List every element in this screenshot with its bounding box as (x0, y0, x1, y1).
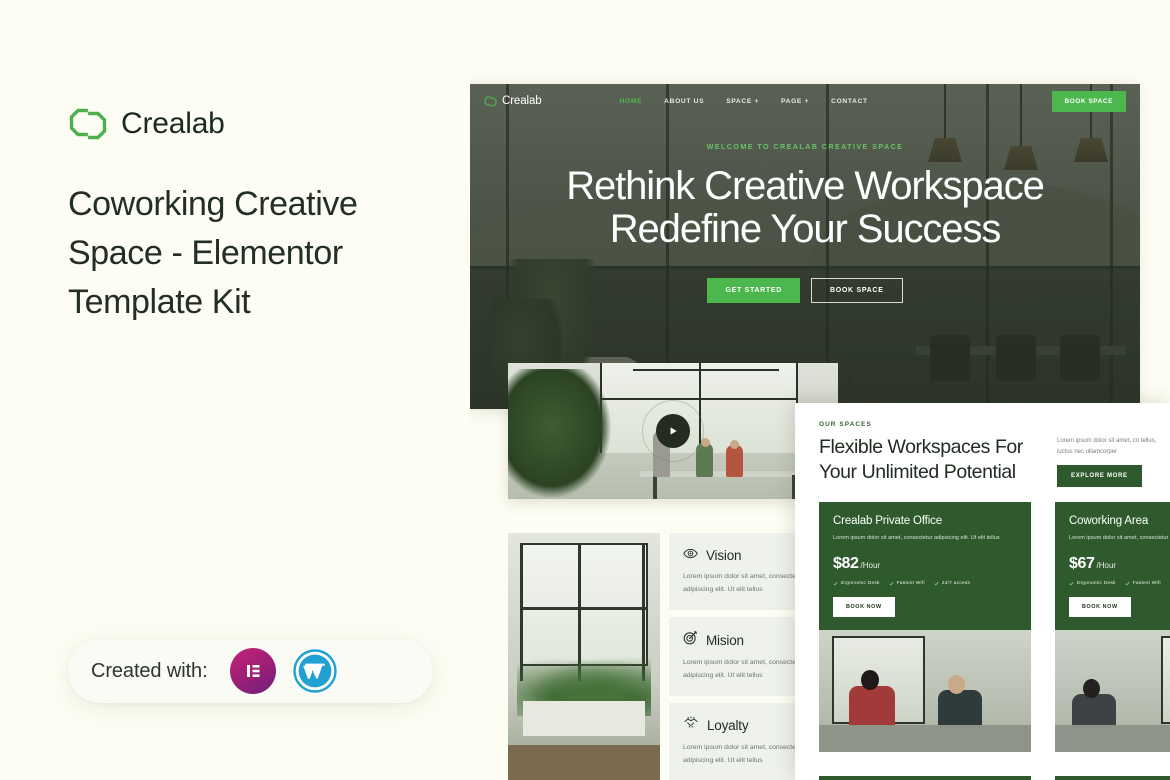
spaces-description: Lorem ipsum dolor sit amet, co tellus, l… (1057, 436, 1161, 459)
space-card-name: Coworking Area (1069, 515, 1170, 527)
template-preview-stage: Crealab HOME ABOUT US SPACE + PAGE + CON… (470, 0, 1170, 780)
check-icon (934, 581, 939, 586)
space-card-unit: /Hour (861, 561, 881, 570)
hero-headline-line-2: Redefine Your Success (470, 208, 1140, 251)
space-card-desc: Lorem ipsum dolor sit amet, consectetur … (833, 533, 1017, 544)
nav-item-about-us[interactable]: ABOUT US (664, 98, 704, 105)
values-section-mockup: Vision Lorem ipsum dolor sit amet, conse… (508, 533, 838, 780)
handshake-icon (683, 716, 699, 735)
hero-book-space-button[interactable]: BOOK SPACE (811, 278, 903, 303)
value-title-mision: Mision (706, 633, 744, 648)
hero-buttons: GET STARTED BOOK SPACE (470, 278, 1140, 303)
check-icon (833, 581, 838, 586)
space-card-name: Crealab Private Office (833, 515, 1017, 527)
wordpress-icon (292, 648, 338, 694)
nav-item-home[interactable]: HOME (620, 98, 643, 105)
space-card-private-office[interactable]: Crealab Private Office Lorem ipsum dolor… (819, 502, 1031, 752)
values-photo (508, 533, 660, 780)
explore-more-button[interactable]: EXPLORE MORE (1057, 465, 1142, 487)
promo-left-panel: Crealab Coworking Creative Space - Eleme… (0, 0, 470, 780)
feature-label: Fastest Wifi (1133, 581, 1161, 586)
video-thumbnail (508, 363, 838, 499)
value-title-loyalty: Loyalty (707, 718, 748, 733)
navbar-menu: HOME ABOUT US SPACE + PAGE + CONTACT (620, 98, 868, 105)
play-triangle-icon (667, 425, 679, 437)
navbar-logo[interactable]: Crealab (484, 95, 542, 108)
space-card-pricing: $82/Hour (833, 555, 1017, 573)
get-started-button[interactable]: GET STARTED (707, 278, 800, 303)
space-card-features: Ergonomic Desk Fastest Wifi 24/7 access (833, 581, 1017, 586)
check-icon (1069, 581, 1074, 586)
spaces-eyebrow: OUR SPACES (819, 421, 872, 428)
hero-screen-mockup: Crealab HOME ABOUT US SPACE + PAGE + CON… (470, 84, 1140, 409)
space-card-photo (819, 630, 1031, 752)
hero-content: WELCOME TO CREALAB CREATIVE SPACE Rethin… (470, 142, 1140, 303)
hero-headline-line-1: Rethink Creative Workspace (470, 165, 1140, 208)
space-card-unit: /Hour (1097, 561, 1117, 570)
navbar-logo-text: Crealab (502, 95, 542, 107)
space-card-price: $82 (833, 555, 859, 572)
created-with-label: Created with: (91, 660, 208, 683)
space-card-desc: Lorem ipsum dolor sit amet, consectetur … (1069, 533, 1170, 544)
feature-label: 24/7 access (942, 581, 970, 586)
check-icon (1125, 581, 1130, 586)
hero-eyebrow: WELCOME TO CREALAB CREATIVE SPACE (470, 142, 1140, 151)
spaces-title: Flexible Workspaces For Your Unlimited P… (819, 435, 1047, 486)
nav-item-space[interactable]: SPACE + (726, 98, 759, 105)
eye-icon (683, 546, 698, 564)
space-card-pricing: $67/Hour (1069, 555, 1170, 573)
navbar-book-space-button[interactable]: BOOK SPACE (1052, 91, 1127, 112)
space-card-features: Ergonomic Desk Fastest Wifi 24/7 access (1069, 581, 1170, 586)
video-section-mockup (508, 363, 838, 499)
value-title-vision: Vision (706, 548, 741, 563)
elementor-icon (230, 648, 276, 694)
spaces-section-mockup: OUR SPACES Flexible Workspaces For Your … (795, 403, 1170, 780)
crealab-double-c-logo-icon (68, 104, 108, 144)
space-card-price: $67 (1069, 555, 1095, 572)
brand-name: Crealab (121, 107, 225, 141)
space-card-photo (1055, 630, 1170, 752)
brand-lockup: Crealab (68, 104, 225, 144)
space-card-event-space[interactable]: Event Space Lorem ipsum dolor sit amet, … (819, 776, 1031, 780)
play-button[interactable] (656, 414, 690, 448)
site-navbar: Crealab HOME ABOUT US SPACE + PAGE + CON… (470, 84, 1140, 118)
nav-item-contact[interactable]: CONTACT (831, 98, 868, 105)
check-icon (889, 581, 894, 586)
feature-label: Ergonomic Desk (841, 581, 880, 586)
page-title: Coworking Creative Space - Elementor Tem… (68, 180, 428, 327)
feature-label: Ergonomic Desk (1077, 581, 1116, 586)
nav-item-page[interactable]: PAGE + (781, 98, 809, 105)
space-cards-grid: Crealab Private Office Lorem ipsum dolor… (819, 502, 1170, 780)
space-card-coworking-area[interactable]: Coworking Area Lorem ipsum dolor sit ame… (1055, 502, 1170, 752)
feature-label: Fastest Wifi (897, 581, 925, 586)
book-now-button[interactable]: BOOK NOW (1069, 597, 1131, 617)
target-icon (683, 630, 698, 650)
space-card-meeting-rooms[interactable]: Meeting Rooms Lorem ipsum dolor sit amet… (1055, 776, 1170, 780)
book-now-button[interactable]: BOOK NOW (833, 597, 895, 617)
created-with-badge: Created with: (68, 639, 433, 703)
tool-logos (230, 648, 338, 694)
